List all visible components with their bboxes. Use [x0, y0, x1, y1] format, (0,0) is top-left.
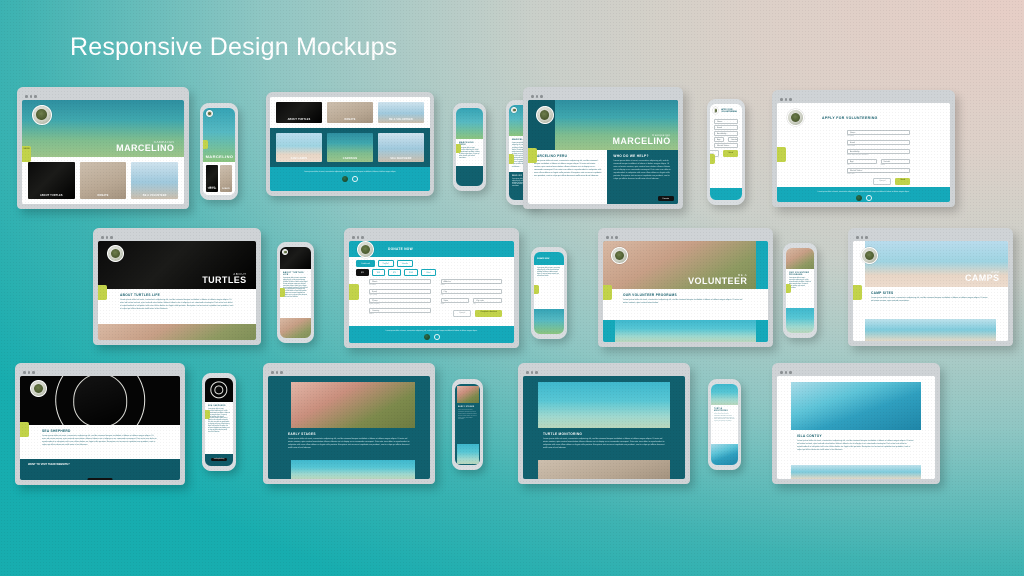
side-menu-tab[interactable]	[349, 284, 359, 300]
mockup-about-turtles-desktop[interactable]: ABOUT TURTLES ABOUT TURTLES LIFE Lorem i…	[93, 228, 261, 345]
site-footer: Lorem ipsum dolor sit amet, consectetur …	[270, 167, 430, 191]
input-name[interactable]: Name	[847, 130, 910, 135]
input-email[interactable]: Email	[369, 289, 431, 294]
payment-method-tabs[interactable]: Credit card PayPal Transfer	[349, 257, 514, 267]
input-gender[interactable]: Gender	[881, 159, 911, 164]
site-logo	[861, 247, 878, 264]
logo-icon[interactable]	[856, 195, 862, 201]
input-availability[interactable]: Availability	[714, 131, 738, 136]
mockup-about-turtles-phone[interactable]: ABOUT TURTLES LIFE Lorem ipsum dolor sit…	[277, 242, 314, 343]
browser-dots	[268, 369, 430, 376]
side-menu-tab[interactable]	[98, 285, 107, 300]
mockup-home-tablet[interactable]: ABOUT TURTLES DONATE BE A VOLUNTEER OUR …	[266, 92, 434, 196]
input-marital-status[interactable]: Marital Status	[714, 143, 738, 148]
browser-dots	[603, 234, 768, 241]
sea-shepherd-logo-icon: SEA SHEPHERD CONSERVATION SOCIETY	[55, 376, 145, 425]
mockup-early-stages-phone[interactable]: EARLY STAGES Lorem ipsum dolor sit amet,…	[452, 379, 483, 470]
site-footer: Lorem ipsum dolor sit amet, consectetur …	[349, 326, 514, 343]
input-address[interactable]: Address	[441, 279, 503, 284]
input-phone[interactable]: Phone	[369, 298, 431, 303]
card-about-turtles[interactable]: ABOUT TURTLES	[206, 165, 218, 192]
side-menu-tab[interactable]	[456, 144, 461, 153]
side-menu-tab[interactable]	[853, 285, 862, 300]
mockup-home-phone-2[interactable]: MARCELINO PERU Lorem ipsum dolor sit ame…	[453, 103, 486, 191]
sea-shepherd-icon[interactable]	[866, 195, 872, 201]
sea-shepherd-icon[interactable]	[434, 334, 440, 340]
card-donate[interactable]: DONATE	[80, 162, 127, 199]
hero-title-block: Campaign MARCELINO	[613, 134, 671, 146]
input-age[interactable]: Age	[714, 137, 724, 142]
sea-shepherd-logo-icon	[210, 381, 227, 398]
card-be-a-volunteer[interactable]: BE A VOLUNTEER	[131, 162, 178, 199]
mockup-camps-desktop[interactable]: OUR CAMPS CAMP SITES Lorem ipsum dolor s…	[848, 228, 1013, 346]
complete-donation-button[interactable]: Complete donation	[475, 310, 502, 317]
site-logo	[107, 245, 124, 262]
amount-other[interactable]: Other	[421, 269, 436, 276]
card-about-turtles[interactable]: ABOUT TURTLES	[276, 102, 322, 123]
mockup-turtle-monitoring-phone[interactable]: TURTLE MONITORING Lorem ipsum dolor sit …	[708, 379, 741, 470]
input-country[interactable]: Country	[369, 308, 431, 313]
mockup-donate-desktop[interactable]: DONATE NOW Credit card PayPal Transfer $…	[344, 228, 519, 348]
side-menu-tab[interactable]	[509, 154, 514, 164]
social-links[interactable]	[353, 334, 510, 340]
side-menu-tab[interactable]	[786, 284, 791, 293]
input-marital-status[interactable]: Marital Status	[847, 168, 910, 173]
sea-shepherd-icon[interactable]	[352, 176, 358, 182]
site-logo	[282, 249, 288, 255]
amount-25[interactable]: $25	[356, 269, 369, 276]
side-menu-tab[interactable]	[205, 410, 210, 419]
browser-dots	[20, 369, 180, 376]
input-email[interactable]: Email	[714, 125, 738, 130]
card-about-turtles[interactable]: ABOUT TURTLES	[28, 162, 75, 199]
mockup-campaign-desktop[interactable]: Campaign MARCELINO MARCELINO PERU Lorem …	[523, 87, 683, 209]
mockup-isla-contoy-desktop[interactable]: ISLA CONTOY Lorem ipsum dolor sit amet, …	[772, 363, 940, 484]
amount-50[interactable]: $50	[372, 269, 385, 276]
site-logo	[713, 107, 718, 114]
hero-title-block: BE A VOLUNTEER	[688, 274, 747, 286]
browser-dots	[22, 93, 184, 100]
mockup-donate-phone[interactable]: DONATE NOW Lorem ipsum dolor sit amet, c…	[531, 247, 567, 339]
mockup-home-phone[interactable]: MARCELINO ABOUT TURTLES DONATE	[200, 103, 238, 200]
card-donate[interactable]: DONATE	[327, 102, 373, 123]
browser-dots	[98, 234, 256, 241]
input-gender[interactable]: Gender	[728, 137, 738, 142]
input-city[interactable]: City	[441, 289, 503, 294]
mockup-volunteer-phone[interactable]: OUR VOLUNTEER PROGRAMS Lorem ipsum dolor…	[783, 243, 817, 338]
side-menu-tab[interactable]	[20, 422, 29, 437]
side-menu-tab[interactable]	[710, 154, 715, 164]
card-donate[interactable]: DONATE	[220, 165, 232, 192]
donate-button[interactable]: Donate	[658, 196, 674, 201]
side-menu-tab[interactable]	[203, 140, 208, 149]
browser-dots	[349, 234, 514, 241]
side-menu-tab[interactable]	[777, 147, 786, 162]
social-links[interactable]	[274, 176, 426, 182]
visit-website-button[interactable]: seashepherd.org	[211, 458, 227, 461]
hero-title-block: MARCELINO	[206, 155, 234, 159]
mockup-sea-shepherd-desktop[interactable]: SEA SHEPHERD CONSERVATION SOCIETY SEA SH…	[15, 363, 185, 485]
input-availability[interactable]: Availability	[847, 149, 910, 154]
method-paypal[interactable]: PayPal	[378, 260, 394, 267]
hero-title-block: CAMPAIGN MARCELINO	[116, 141, 174, 153]
input-age[interactable]: Age	[847, 159, 877, 164]
site-logo	[206, 110, 213, 117]
side-menu-tab[interactable]	[280, 288, 285, 297]
mockup-volunteer-desktop[interactable]: BE A VOLUNTEER OUR VOLUNTEER PROGRAMS Lo…	[598, 228, 773, 347]
input-email[interactable]: Email	[847, 140, 910, 145]
site-logo	[787, 109, 804, 126]
mockup-volunteer-form-desktop[interactable]: APPLY FOR VOLUNTEERING Name Full name Em…	[772, 90, 955, 207]
input-zip[interactable]: Zip code	[473, 298, 502, 303]
input-state[interactable]: State	[441, 298, 470, 303]
social-links[interactable]	[781, 195, 946, 201]
browser-dots	[777, 369, 935, 376]
visit-website-button[interactable]: seashepherd.org	[87, 478, 112, 480]
card-campaign[interactable]: CAMPAIGN	[327, 133, 373, 162]
method-credit-card[interactable]: Credit card	[356, 260, 375, 267]
method-transfer[interactable]: Transfer	[397, 260, 414, 267]
send-button[interactable]: Send	[895, 178, 910, 185]
side-menu-tab[interactable]	[528, 148, 537, 163]
input-name[interactable]: Name	[369, 279, 431, 284]
logo-icon[interactable]	[342, 176, 348, 182]
browser-dots	[528, 93, 678, 100]
site-logo	[536, 106, 554, 124]
mockup-volunteer-form-phone[interactable]: APPLY FOR VOLUNTEERING Name Email Availa…	[707, 99, 745, 205]
site-logo	[511, 107, 517, 113]
site-logo	[30, 380, 47, 397]
cancel-button[interactable]: Cancel	[453, 310, 471, 317]
side-menu-tab[interactable]: MENU	[22, 146, 31, 162]
input-name[interactable]: Name	[714, 119, 738, 124]
mockup-early-stages-desktop[interactable]: EARLY STAGES Lorem ipsum dolor sit amet,…	[263, 363, 435, 484]
browser-dots	[523, 369, 685, 376]
site-logo	[357, 241, 374, 258]
site-logo	[32, 105, 52, 125]
site-footer: Lorem ipsum dolor sit amet, consectetur …	[777, 187, 950, 203]
send-button[interactable]: Send	[723, 150, 738, 157]
mockup-turtle-monitoring-desktop[interactable]: TURTLE MONITORING Lorem ipsum dolor sit …	[518, 363, 690, 484]
presentation-slide: Responsive Design Mockups CAMPAIGN MARCE…	[0, 0, 1024, 576]
side-menu-tab[interactable]	[534, 285, 539, 294]
mockup-sea-shepherd-phone[interactable]: SEA SHEPHERD Lorem ipsum dolor sit amet,…	[202, 373, 236, 471]
browser-dots	[777, 96, 950, 103]
card-be-a-volunteer[interactable]: BE A VOLUNTEER	[378, 102, 424, 123]
browser-dots	[853, 234, 1008, 241]
card-our-camps[interactable]: OUR CAMPS	[276, 133, 322, 162]
mockup-home-desktop[interactable]: CAMPAIGN MARCELINO ABOUT TURTLES DONATE …	[17, 87, 189, 209]
amount-75[interactable]: $75	[388, 269, 401, 276]
amount-options[interactable]: $25 $50 $75 $100 Other	[349, 267, 514, 276]
page-header: DONATE NOW	[349, 241, 514, 257]
logo-icon[interactable]	[424, 334, 430, 340]
hero-title-block: OUR CAMPS	[965, 271, 1000, 283]
side-menu-tab[interactable]	[603, 285, 612, 300]
page-title: Responsive Design Mockups	[70, 33, 397, 62]
cancel-button[interactable]: Cancel	[873, 178, 891, 185]
hero-title-block: ABOUT TURTLES	[202, 273, 246, 285]
card-sea-shepherd[interactable]: SEA SHEPHERD	[378, 133, 424, 162]
amount-100[interactable]: $100	[404, 269, 418, 276]
